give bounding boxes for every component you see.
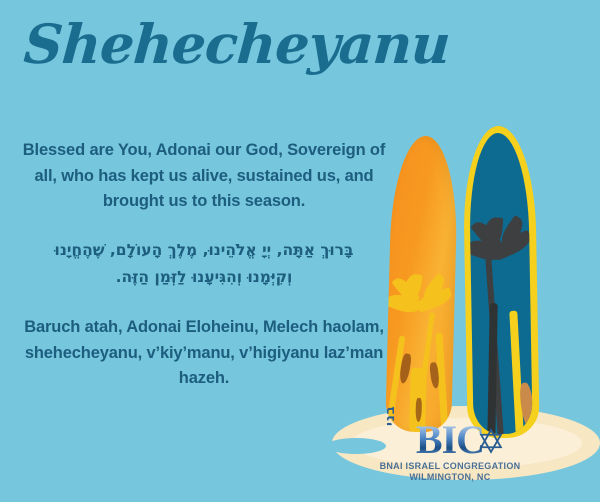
logo-org-name: BNAI ISRAEL CONGREGATION: [378, 461, 522, 471]
palm-frond-icon: [403, 273, 423, 301]
star-of-david-icon: [478, 428, 504, 454]
blessing-english: Blessed are You, Adonai our God, Soverei…: [12, 138, 396, 215]
poster-canvas: Shehecheyanu Blessed are You, Adonai our…: [0, 0, 600, 502]
sand-edge-notch: [326, 438, 386, 454]
page-title: Shehecheyanu: [22, 16, 486, 73]
logo-org-location: WILMINGTON, NC: [378, 472, 522, 482]
board-stripe: [509, 311, 524, 435]
blessing-hebrew-line-2: וְקִיְּמָנוּ וְהִגִּיעָנוּ לַזְּמַן הַזֶ…: [12, 264, 396, 291]
logo-hebrew-mark: בני: [383, 405, 398, 426]
organization-logo: BIC בני BNAI ISRAEL CONGREGATION WILMING…: [378, 420, 522, 482]
blessing-transliteration: Baruch atah, Adonai Eloheinu, Melech hao…: [12, 315, 396, 392]
blessing-hebrew-line-1: בָּרוּךְ אַתָּה, יְיָ אֱלֹהֵינוּ, מֶלֶךְ…: [12, 237, 396, 264]
blessing-hebrew: בָּרוּךְ אַתָּה, יְיָ אֱלֹהֵינוּ, מֶלֶךְ…: [12, 237, 396, 291]
orange-surfboard: [385, 135, 459, 433]
blessing-text-block: Blessed are You, Adonai our God, Soverei…: [12, 138, 396, 392]
logo-monogram: BIC: [416, 420, 484, 460]
blue-surfboard-deck: [468, 133, 532, 435]
logo-mark: BIC בני: [378, 420, 522, 460]
blue-surfboard: [462, 125, 539, 438]
